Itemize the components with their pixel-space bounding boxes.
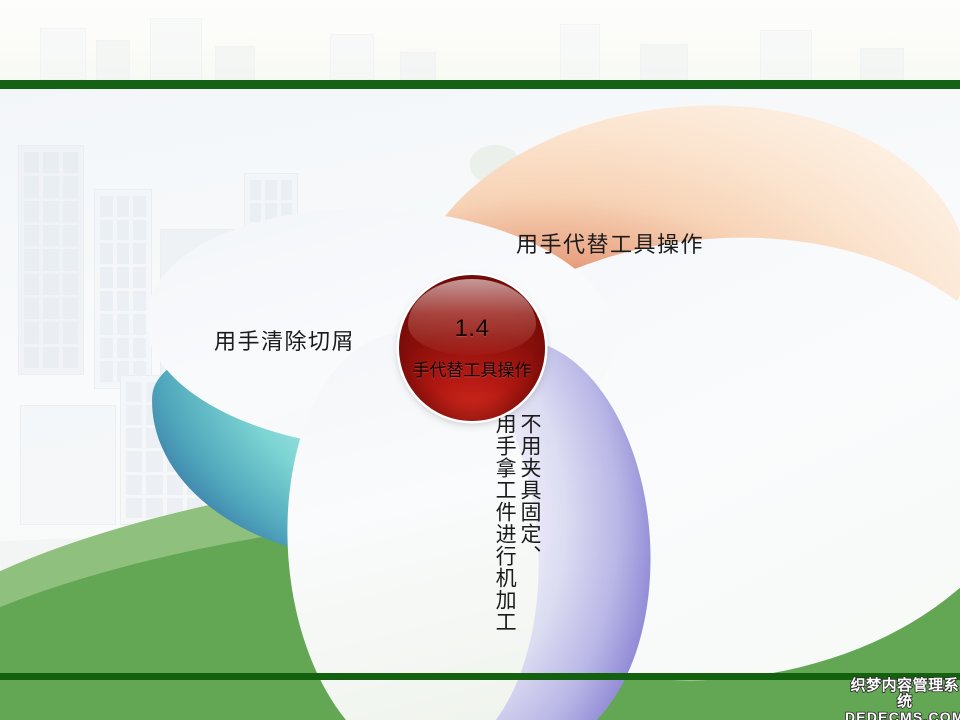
background-cityscape-top (0, 0, 960, 80)
site-watermark: 织梦内容管理系统 DEDECMS.COM (845, 678, 960, 720)
center-sphere[interactable]: 1.4 手代替工具操作 (399, 275, 545, 421)
bottom-accent-rule (0, 673, 960, 680)
petal-bottom-label-line1: 不用夹具固定、 (518, 413, 540, 701)
petal-bottom-label-line2: 用手拿工件进行机加工 (493, 413, 515, 701)
watermark-cn: 织梦内容管理系统 (845, 678, 960, 710)
center-sphere-label: 手代替工具操作 (412, 361, 532, 381)
pinwheel-diagram: 用手代替工具操作 用手清除切屑 不用夹具固定、 用手拿工件进行机加工 1.4 手… (0, 89, 960, 720)
watermark-en: DEDECMS.COM (845, 710, 960, 720)
petal-left-label: 用手清除切屑 (214, 324, 355, 356)
presentation-slide: 用手代替工具操作 用手清除切屑 不用夹具固定、 用手拿工件进行机加工 1.4 手… (0, 0, 960, 720)
petal-bottom-label: 不用夹具固定、 用手拿工件进行机加工 (454, 413, 540, 701)
petal-top-right-label: 用手代替工具操作 (516, 227, 704, 259)
center-sphere-text: 1.4 手代替工具操作 (412, 315, 532, 380)
center-sphere-number: 1.4 (412, 315, 532, 343)
top-accent-rule (0, 80, 960, 89)
slide-body: 用手代替工具操作 用手清除切屑 不用夹具固定、 用手拿工件进行机加工 1.4 手… (0, 89, 960, 720)
slide-top-margin (0, 0, 960, 80)
